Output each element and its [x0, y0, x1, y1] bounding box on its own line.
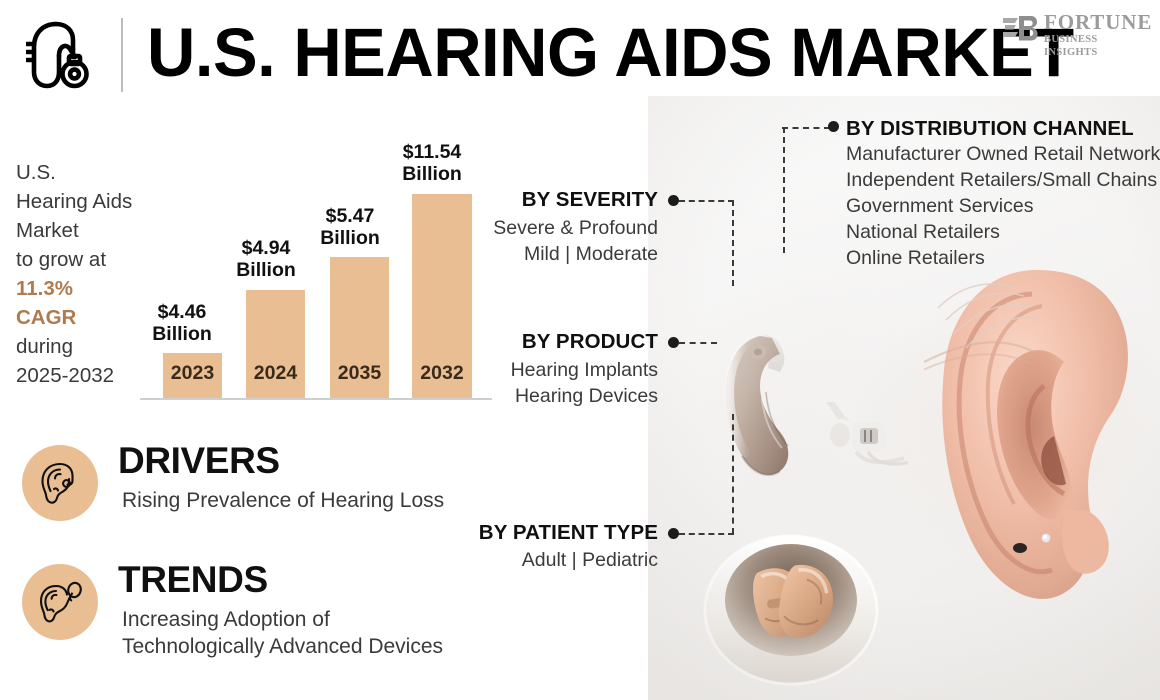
trends-description-line-2: Technologically Advanced Devices: [122, 635, 443, 658]
drivers-title: DRIVERS: [118, 439, 280, 483]
summary-period: 2025-2032: [16, 364, 114, 387]
page-title: U.S. HEARING AIDS MARKET: [147, 14, 952, 92]
cagr-label: CAGR: [16, 303, 148, 332]
fortune-business-insights-logo: FORTUNE BUSINESS INSIGHTS: [1002, 10, 1152, 52]
header: U.S. HEARING AIDS MARKET FORTUNE BUSINES…: [0, 0, 1160, 108]
segment-item-distribution-0: Manufacturer Owned Retail Networks: [846, 142, 1160, 167]
bar-value-2: $5.47 Billion: [300, 206, 400, 249]
segment-heading-severity: BY SEVERITY: [400, 188, 658, 212]
bar-value-amount: $11.54: [403, 141, 462, 163]
segment-item-distribution-3: National Retailers: [846, 220, 1000, 245]
hearing-aid-icon: [26, 16, 98, 92]
cagr-value: 11.3%: [16, 274, 148, 303]
connector-dot-distribution: [828, 121, 839, 132]
bar-value-3: $11.54 Billion: [382, 142, 482, 185]
trends-description-line-1: Increasing Adoption of: [122, 608, 330, 631]
logo-name: FORTUNE: [1044, 11, 1152, 33]
segment-heading-product: BY PRODUCT: [400, 330, 658, 354]
segment-item-distribution-4: Online Retailers: [846, 246, 985, 271]
fbi-logo-mark: [1002, 14, 1038, 42]
connector-patient-horizontal: [679, 533, 734, 535]
summary-line-4: to grow at: [16, 248, 106, 271]
segment-item-severity-0: Severe & Profound: [400, 216, 658, 241]
connector-distribution-vertical: [783, 127, 785, 253]
segment-item-distribution-2: Government Services: [846, 194, 1034, 219]
drivers-description: Rising Prevalence of Hearing Loss: [122, 487, 522, 514]
segment-item-severity-1: Mild | Moderate: [400, 242, 658, 267]
bar-value-unit: Billion: [152, 323, 212, 345]
trends-title: TRENDS: [118, 558, 268, 602]
segment-item-product-0: Hearing Implants: [400, 358, 658, 383]
ear-wireless-device-icon: [36, 578, 84, 626]
market-summary-text: U.S. Hearing Aids Market to grow at 11.3…: [16, 158, 148, 390]
segment-heading-distribution: BY DISTRIBUTION CHANNEL: [846, 117, 1134, 141]
bar-value-amount: $5.47: [326, 205, 375, 227]
connector-distribution-horizontal: [782, 127, 830, 129]
trends-description: Increasing Adoption of Technologically A…: [122, 606, 522, 660]
connector-product-horizontal: [679, 342, 717, 344]
connector-severity-horizontal: [679, 200, 734, 202]
connector-severity-vertical: [732, 200, 734, 286]
bar-value-amount: $4.94: [242, 237, 291, 259]
bar-category-1: 2024: [246, 363, 305, 384]
summary-line-2: Hearing Aids: [16, 190, 132, 213]
segment-item-product-1: Hearing Devices: [400, 384, 658, 409]
segment-item-patient-0: Adult | Pediatric: [390, 548, 658, 573]
segment-heading-patient-type: BY PATIENT TYPE: [390, 521, 658, 545]
segment-item-distribution-1: Independent Retailers/Small Chains: [846, 168, 1157, 193]
bar-value-unit: Billion: [320, 227, 380, 249]
connector-dot-product: [668, 337, 679, 348]
summary-line-3: Market: [16, 219, 79, 242]
bar-value-0: $4.46 Billion: [132, 302, 232, 345]
summary-line-1: U.S.: [16, 161, 56, 184]
connector-dot-severity: [668, 195, 679, 206]
connector-dot-patient-type: [668, 528, 679, 539]
kpi-trends: TRENDS Increasing Adoption of Technologi…: [22, 564, 492, 664]
logo-tagline: BUSINESS INSIGHTS: [1044, 33, 1152, 59]
header-divider: [121, 18, 123, 92]
bar-value-unit: Billion: [402, 163, 462, 185]
bar-category-0: 2023: [163, 363, 222, 384]
infographic-canvas: U.S. HEARING AIDS MARKET FORTUNE BUSINES…: [0, 0, 1160, 700]
summary-line-5: during: [16, 335, 73, 358]
connector-patient-vertical: [732, 414, 734, 534]
bar-value-amount: $4.46: [158, 301, 207, 323]
bar-category-2: 2035: [330, 363, 389, 384]
ear-hearing-aid-icon: [36, 459, 84, 507]
bar-value-unit: Billion: [236, 259, 296, 281]
